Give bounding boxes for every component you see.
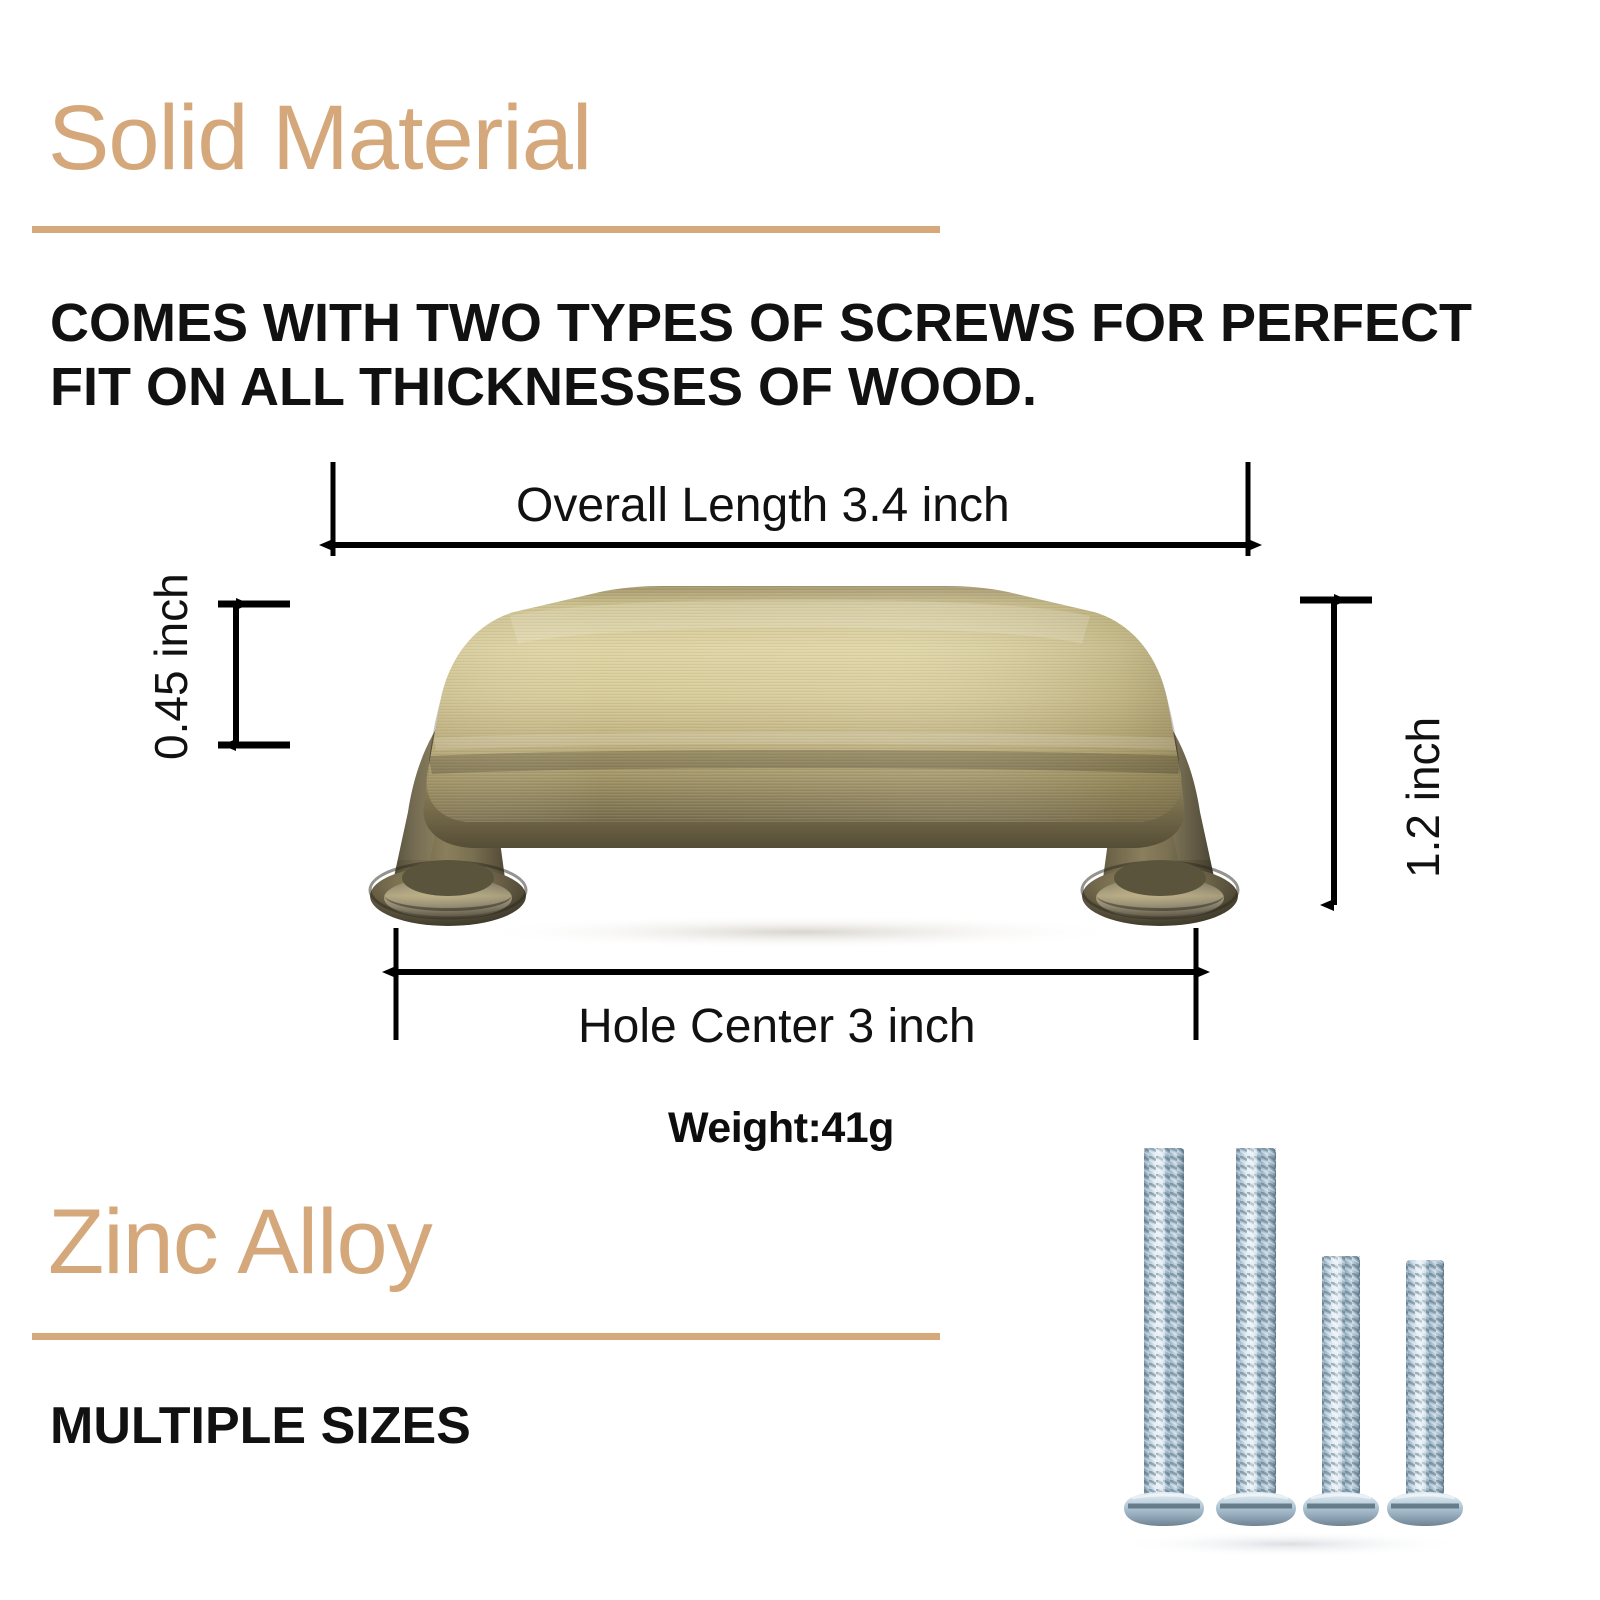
dim-label-overall-length: Overall Length 3.4 inch (516, 482, 1010, 530)
section-body-zinc-alloy: MULTIPLE SIZES (50, 1396, 471, 1457)
section-divider-top (32, 226, 940, 233)
section-title-solid-material: Solid Material (48, 92, 591, 184)
handle-left-foot (370, 860, 526, 926)
handle-right-foot (1082, 860, 1238, 926)
screw-long-2 (1216, 1148, 1296, 1526)
section-divider-bottom (32, 1333, 940, 1340)
handle-top-bar (300, 560, 1300, 860)
weight-label: Weight:41g (668, 1104, 894, 1153)
dim-label-projection: 0.45 inch (148, 573, 194, 760)
section-body-solid-material: COMES WITH TWO TYPES OF SCREWS FOR PERFE… (50, 292, 1520, 419)
product-image-cabinet-handle (300, 560, 1300, 950)
dim-label-hole-center: Hole Center 3 inch (578, 1003, 976, 1051)
section-title-zinc-alloy: Zinc Alloy (48, 1196, 432, 1288)
screw-short-2 (1387, 1260, 1463, 1526)
product-image-screws (1100, 1120, 1480, 1560)
screw-short-1 (1303, 1256, 1379, 1526)
screw-long-1 (1124, 1148, 1204, 1526)
dim-label-height: 1.2 inch (1400, 717, 1446, 878)
infographic-page: Solid Material COMES WITH TWO TYPES OF S… (0, 0, 1600, 1600)
